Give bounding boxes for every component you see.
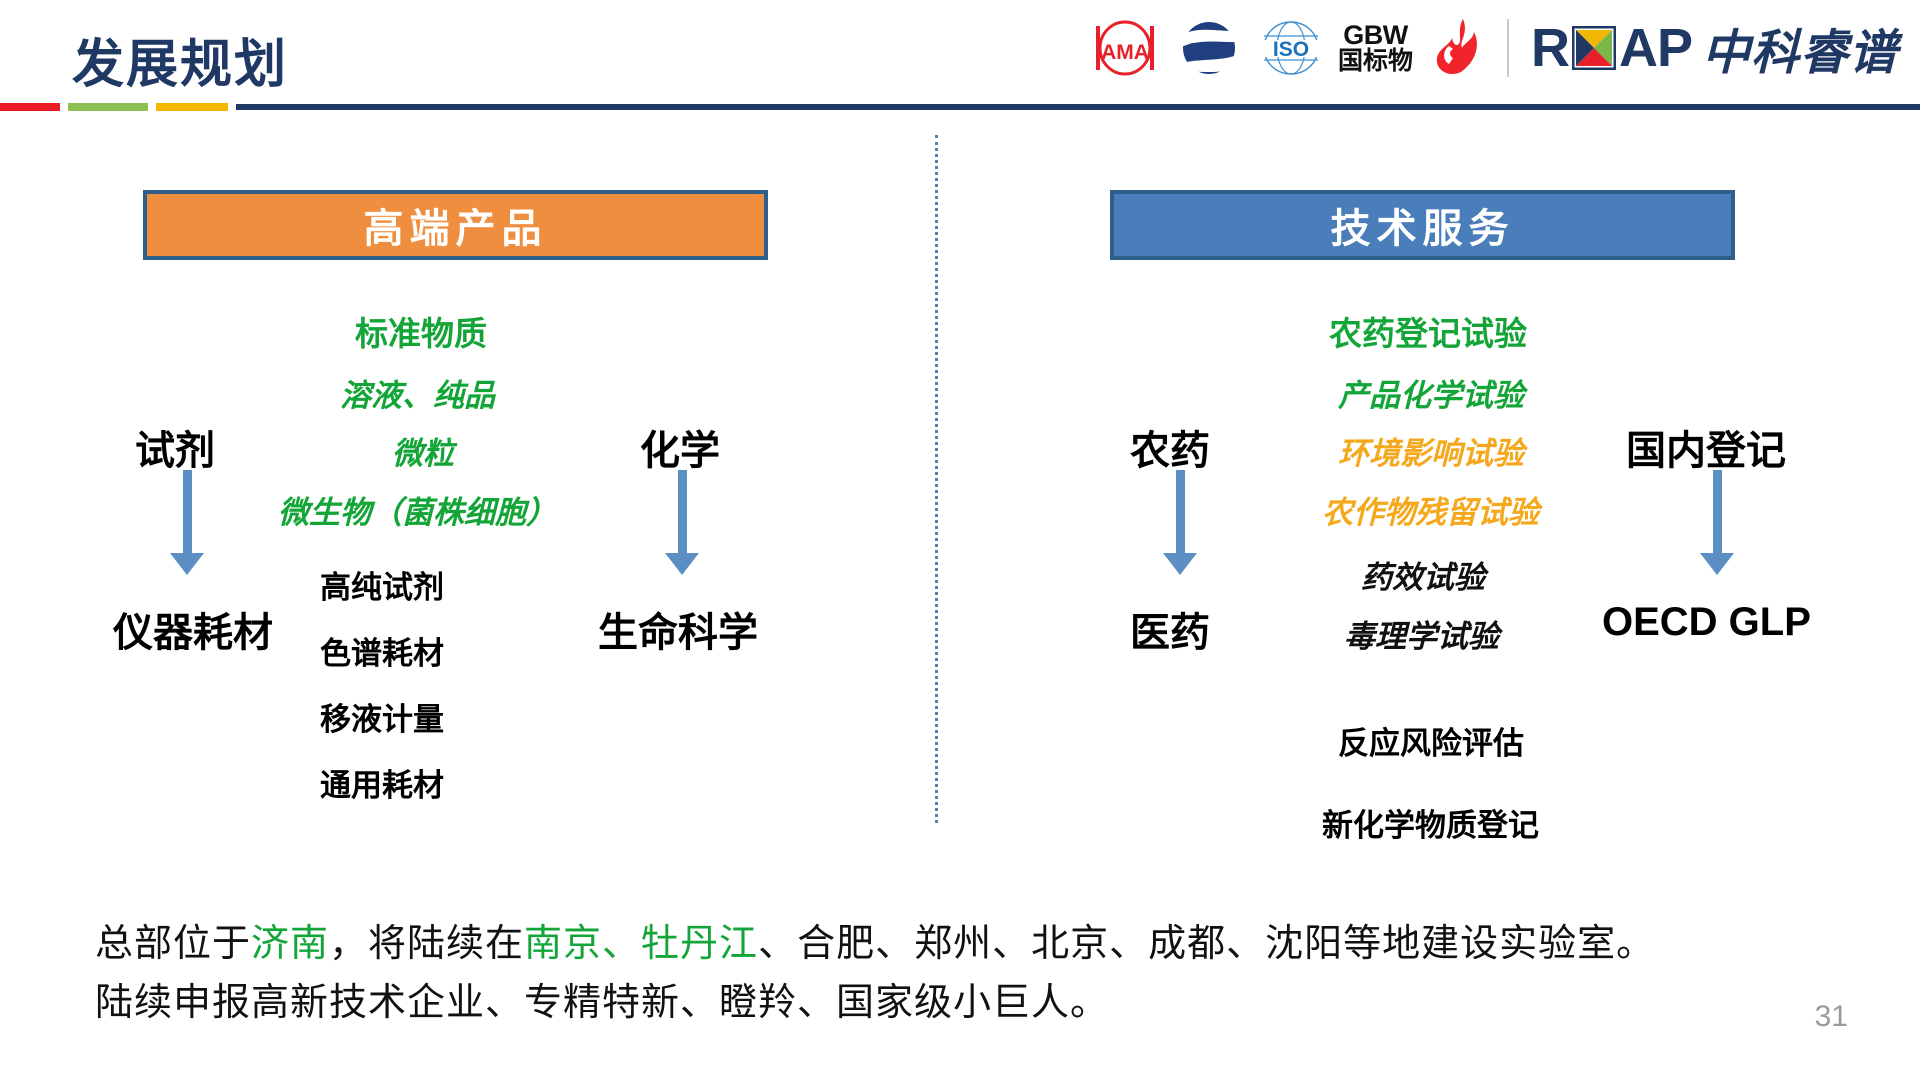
gbw-logo-en: GBW — [1343, 22, 1407, 49]
left-item-general-consumables: 通用耗材 — [320, 760, 444, 805]
svg-text:AMA: AMA — [1101, 41, 1149, 64]
underline-segment-yellow — [156, 103, 228, 111]
reap-brand-logo: R AP 中科睿谱 — [1531, 13, 1898, 83]
right-item-toxicology-trial: 毒理学试验 — [1344, 611, 1499, 656]
right-item-pesticide-registration-trial: 农药登记试验 — [1329, 307, 1527, 355]
footer-highlight-jinan: 济南 — [251, 923, 329, 965]
footer-text-3: 、合肥、郑州、北京、成都、沈阳等地建设实验室。 — [758, 923, 1655, 965]
category-header-high-end-products: 高端产品 — [143, 190, 768, 260]
footer-line-2: 陆续申报高新技术企业、专精特新、瞪羚、国家级小巨人。 — [95, 974, 1855, 1033]
footer-line-1: 总部位于济南，将陆续在南京、牡丹江、合肥、郑州、北京、成都、沈阳等地建设实验室。 — [95, 915, 1855, 974]
reap-letter-r: R — [1531, 21, 1569, 75]
left-item-solution-pure: 溶液、纯品 — [340, 370, 495, 415]
left-item-pipetting-metering: 移液计量 — [320, 694, 444, 739]
node-instrument-consumables: 仪器耗材 — [113, 600, 273, 658]
gbw-logo-cn: 国标物 — [1338, 49, 1413, 74]
reap-hourglass-mark — [1572, 26, 1616, 70]
right-item-efficacy-trial: 药效试验 — [1361, 552, 1485, 597]
arrow-chemistry-to-life-science — [665, 470, 699, 575]
certification-logo-row: AMA CNAS ISO GBW 国标物 — [1092, 12, 1898, 84]
left-item-chromatography-consumables: 色谱耗材 — [320, 628, 444, 673]
node-reagent: 试剂 — [135, 418, 215, 476]
arrow-pesticide-to-pharma — [1163, 470, 1197, 575]
underline-segment-red — [0, 103, 60, 111]
footer-description: 总部位于济南，将陆续在南京、牡丹江、合肥、郑州、北京、成都、沈阳等地建设实验室。… — [95, 915, 1855, 1033]
title-underline — [0, 103, 1920, 112]
footer-highlight-nanjing-mudanjiang: 南京、牡丹江 — [524, 923, 758, 965]
svg-text:ISO: ISO — [1273, 38, 1309, 61]
page-number: 31 — [1815, 1000, 1848, 1034]
underline-segment-navy — [236, 104, 1920, 110]
underline-segment-green — [68, 103, 148, 111]
footer-text-2: ，将陆续在 — [329, 923, 524, 965]
left-item-high-purity-reagent: 高纯试剂 — [320, 562, 444, 607]
footer-text-1: 总部位于 — [95, 923, 251, 965]
right-item-product-chemistry-trial: 产品化学试验 — [1338, 370, 1524, 415]
left-item-microparticle: 微粒 — [392, 428, 454, 473]
node-life-science: 生命科学 — [598, 600, 758, 658]
node-chemistry: 化学 — [640, 418, 720, 476]
arrow-reagent-to-consumable — [170, 470, 204, 575]
right-item-reaction-risk-assessment: 反应风险评估 — [1338, 718, 1524, 763]
page-title: 发展规划 — [72, 22, 288, 97]
gbw-logo: GBW 国标物 — [1338, 22, 1413, 74]
right-item-new-chemical-registration: 新化学物质登记 — [1322, 800, 1539, 845]
column-divider — [935, 135, 938, 823]
right-item-crop-residue-trial: 农作物残留试验 — [1322, 487, 1539, 532]
node-oecd-glp: OECD GLP — [1602, 600, 1811, 645]
node-domestic-registration: 国内登记 — [1626, 418, 1786, 476]
slide: 发展规划 AMA CNAS — [0, 0, 1920, 1080]
flame-logo — [1429, 18, 1485, 78]
left-item-microorganism: 微生物（菌株细胞） — [278, 487, 557, 532]
reap-chinese-name: 中科睿谱 — [1702, 13, 1898, 83]
cnas-logo: CNAS — [1174, 21, 1244, 75]
category-header-technical-service: 技术服务 — [1110, 190, 1735, 260]
reap-letters-ap: AP — [1619, 21, 1692, 75]
icama-logo: AMA — [1092, 20, 1158, 76]
svg-text:CNAS: CNAS — [1185, 39, 1232, 59]
right-item-environmental-impact-trial: 环境影响试验 — [1338, 428, 1524, 473]
logo-divider — [1507, 19, 1509, 77]
arrow-domestic-to-oecd — [1700, 470, 1734, 575]
node-pesticide: 农药 — [1130, 418, 1210, 476]
node-pharmaceutical: 医药 — [1130, 600, 1210, 658]
iso-logo: ISO — [1260, 20, 1322, 76]
left-item-standard-material: 标准物质 — [355, 307, 487, 355]
